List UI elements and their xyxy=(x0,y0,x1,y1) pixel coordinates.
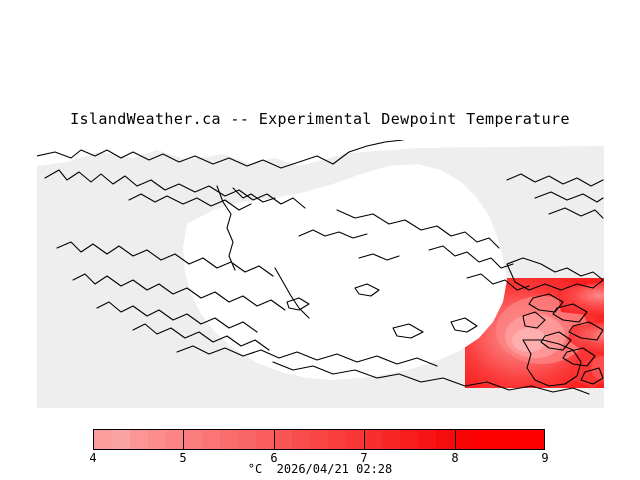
colorbar-swatch xyxy=(508,430,526,449)
colorbar-swatch xyxy=(94,430,112,449)
colorbar-swatch xyxy=(220,430,238,449)
colorbar-swatch xyxy=(292,430,310,449)
colorbar-swatch xyxy=(382,430,400,449)
weather-map-page: IslandWeather.ca -- Experimental Dewpoin… xyxy=(0,0,640,480)
colorbar: 456789 xyxy=(93,429,545,450)
colorbar-swatch xyxy=(472,430,490,449)
colorbar-swatch xyxy=(364,430,382,449)
colorbar-unit-label: °C 2026/04/21 02:28 xyxy=(0,462,640,476)
colorbar-swatch xyxy=(328,430,346,449)
colorbar-gradient xyxy=(93,429,545,450)
colorbar-swatch xyxy=(130,430,148,449)
colorbar-swatch xyxy=(202,430,220,449)
colorbar-swatch xyxy=(526,430,544,449)
colorbar-swatch xyxy=(418,430,436,449)
colorbar-swatch xyxy=(454,430,472,449)
colorbar-swatch xyxy=(166,430,184,449)
colorbar-swatch xyxy=(310,430,328,449)
colorbar-swatch xyxy=(436,430,454,449)
colorbar-swatch xyxy=(346,430,364,449)
coastline-layer xyxy=(37,140,604,408)
map-plot-area[interactable] xyxy=(37,140,604,408)
colorbar-swatch xyxy=(148,430,166,449)
colorbar-swatch xyxy=(184,430,202,449)
colorbar-swatch xyxy=(256,430,274,449)
colorbar-swatch xyxy=(274,430,292,449)
colorbar-swatch xyxy=(400,430,418,449)
colorbar-swatch xyxy=(238,430,256,449)
colorbar-swatch xyxy=(112,430,130,449)
colorbar-swatch xyxy=(490,430,508,449)
page-title: IslandWeather.ca -- Experimental Dewpoin… xyxy=(0,110,640,128)
